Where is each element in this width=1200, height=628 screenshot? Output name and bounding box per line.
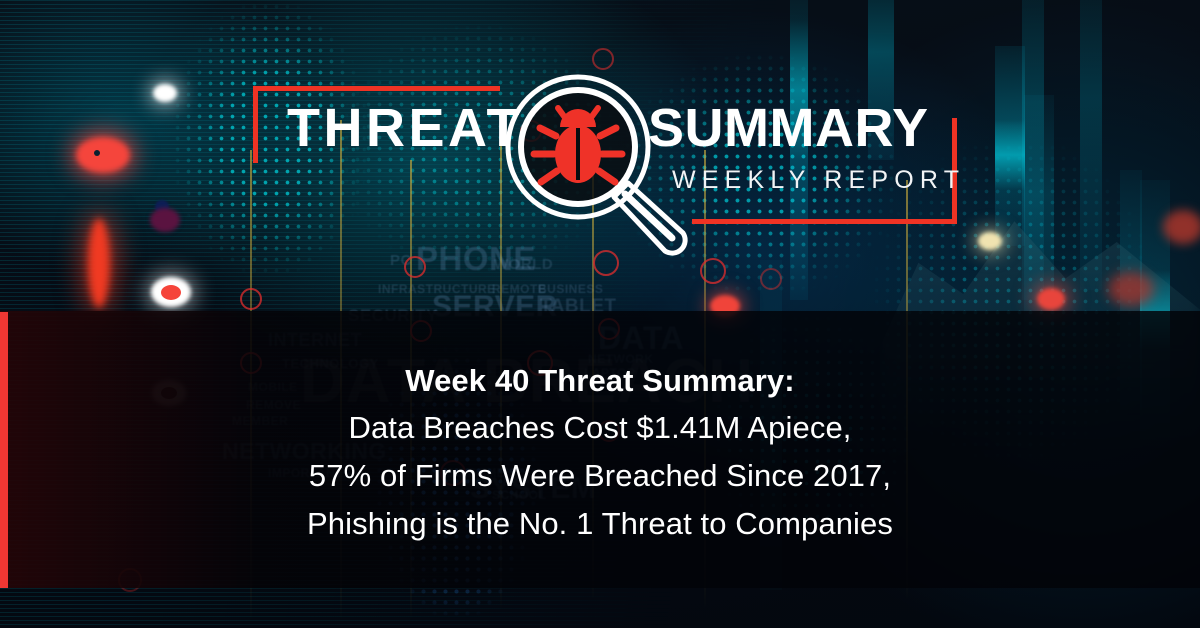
marker-glow <box>1108 272 1154 306</box>
vertical-light-bar <box>88 218 110 308</box>
marker-glow <box>1037 288 1065 310</box>
target-ring <box>700 258 726 284</box>
marker-core <box>94 150 100 156</box>
bracket-bottom-right-horizontal <box>692 219 957 224</box>
target-ring <box>592 48 614 70</box>
marker-core <box>161 285 181 300</box>
marker-glow <box>153 84 177 102</box>
bracket-top-left-vertical <box>253 86 258 163</box>
target-ring <box>404 256 426 278</box>
target-ring <box>240 288 262 310</box>
marker-glow <box>978 232 1002 250</box>
copy-headline: Week 40 Threat Summary: <box>0 358 1200 404</box>
marker-glow <box>150 208 180 232</box>
copy-line-4: Phishing is the No. 1 Threat to Companie… <box>0 500 1200 548</box>
threat-summary-banner: PC PHONE WORLD INFRASTRUCTURE REMOTE BUS… <box>0 0 1200 628</box>
marker-glow <box>1163 210 1200 244</box>
main-copy: Week 40 Threat Summary: Data Breaches Co… <box>0 358 1200 548</box>
bug-in-magnifier-icon <box>500 72 700 262</box>
title-threat: THREAT <box>287 101 523 155</box>
bracket-top-left-horizontal <box>253 86 500 91</box>
copy-line-3: 57% of Firms Were Breached Since 2017, <box>0 452 1200 500</box>
target-ring <box>760 268 782 290</box>
marker-glow <box>76 137 130 173</box>
copy-line-2: Data Breaches Cost $1.41M Apiece, <box>0 404 1200 452</box>
subtitle-weekly-report: WEEKLY REPORT <box>672 168 965 193</box>
